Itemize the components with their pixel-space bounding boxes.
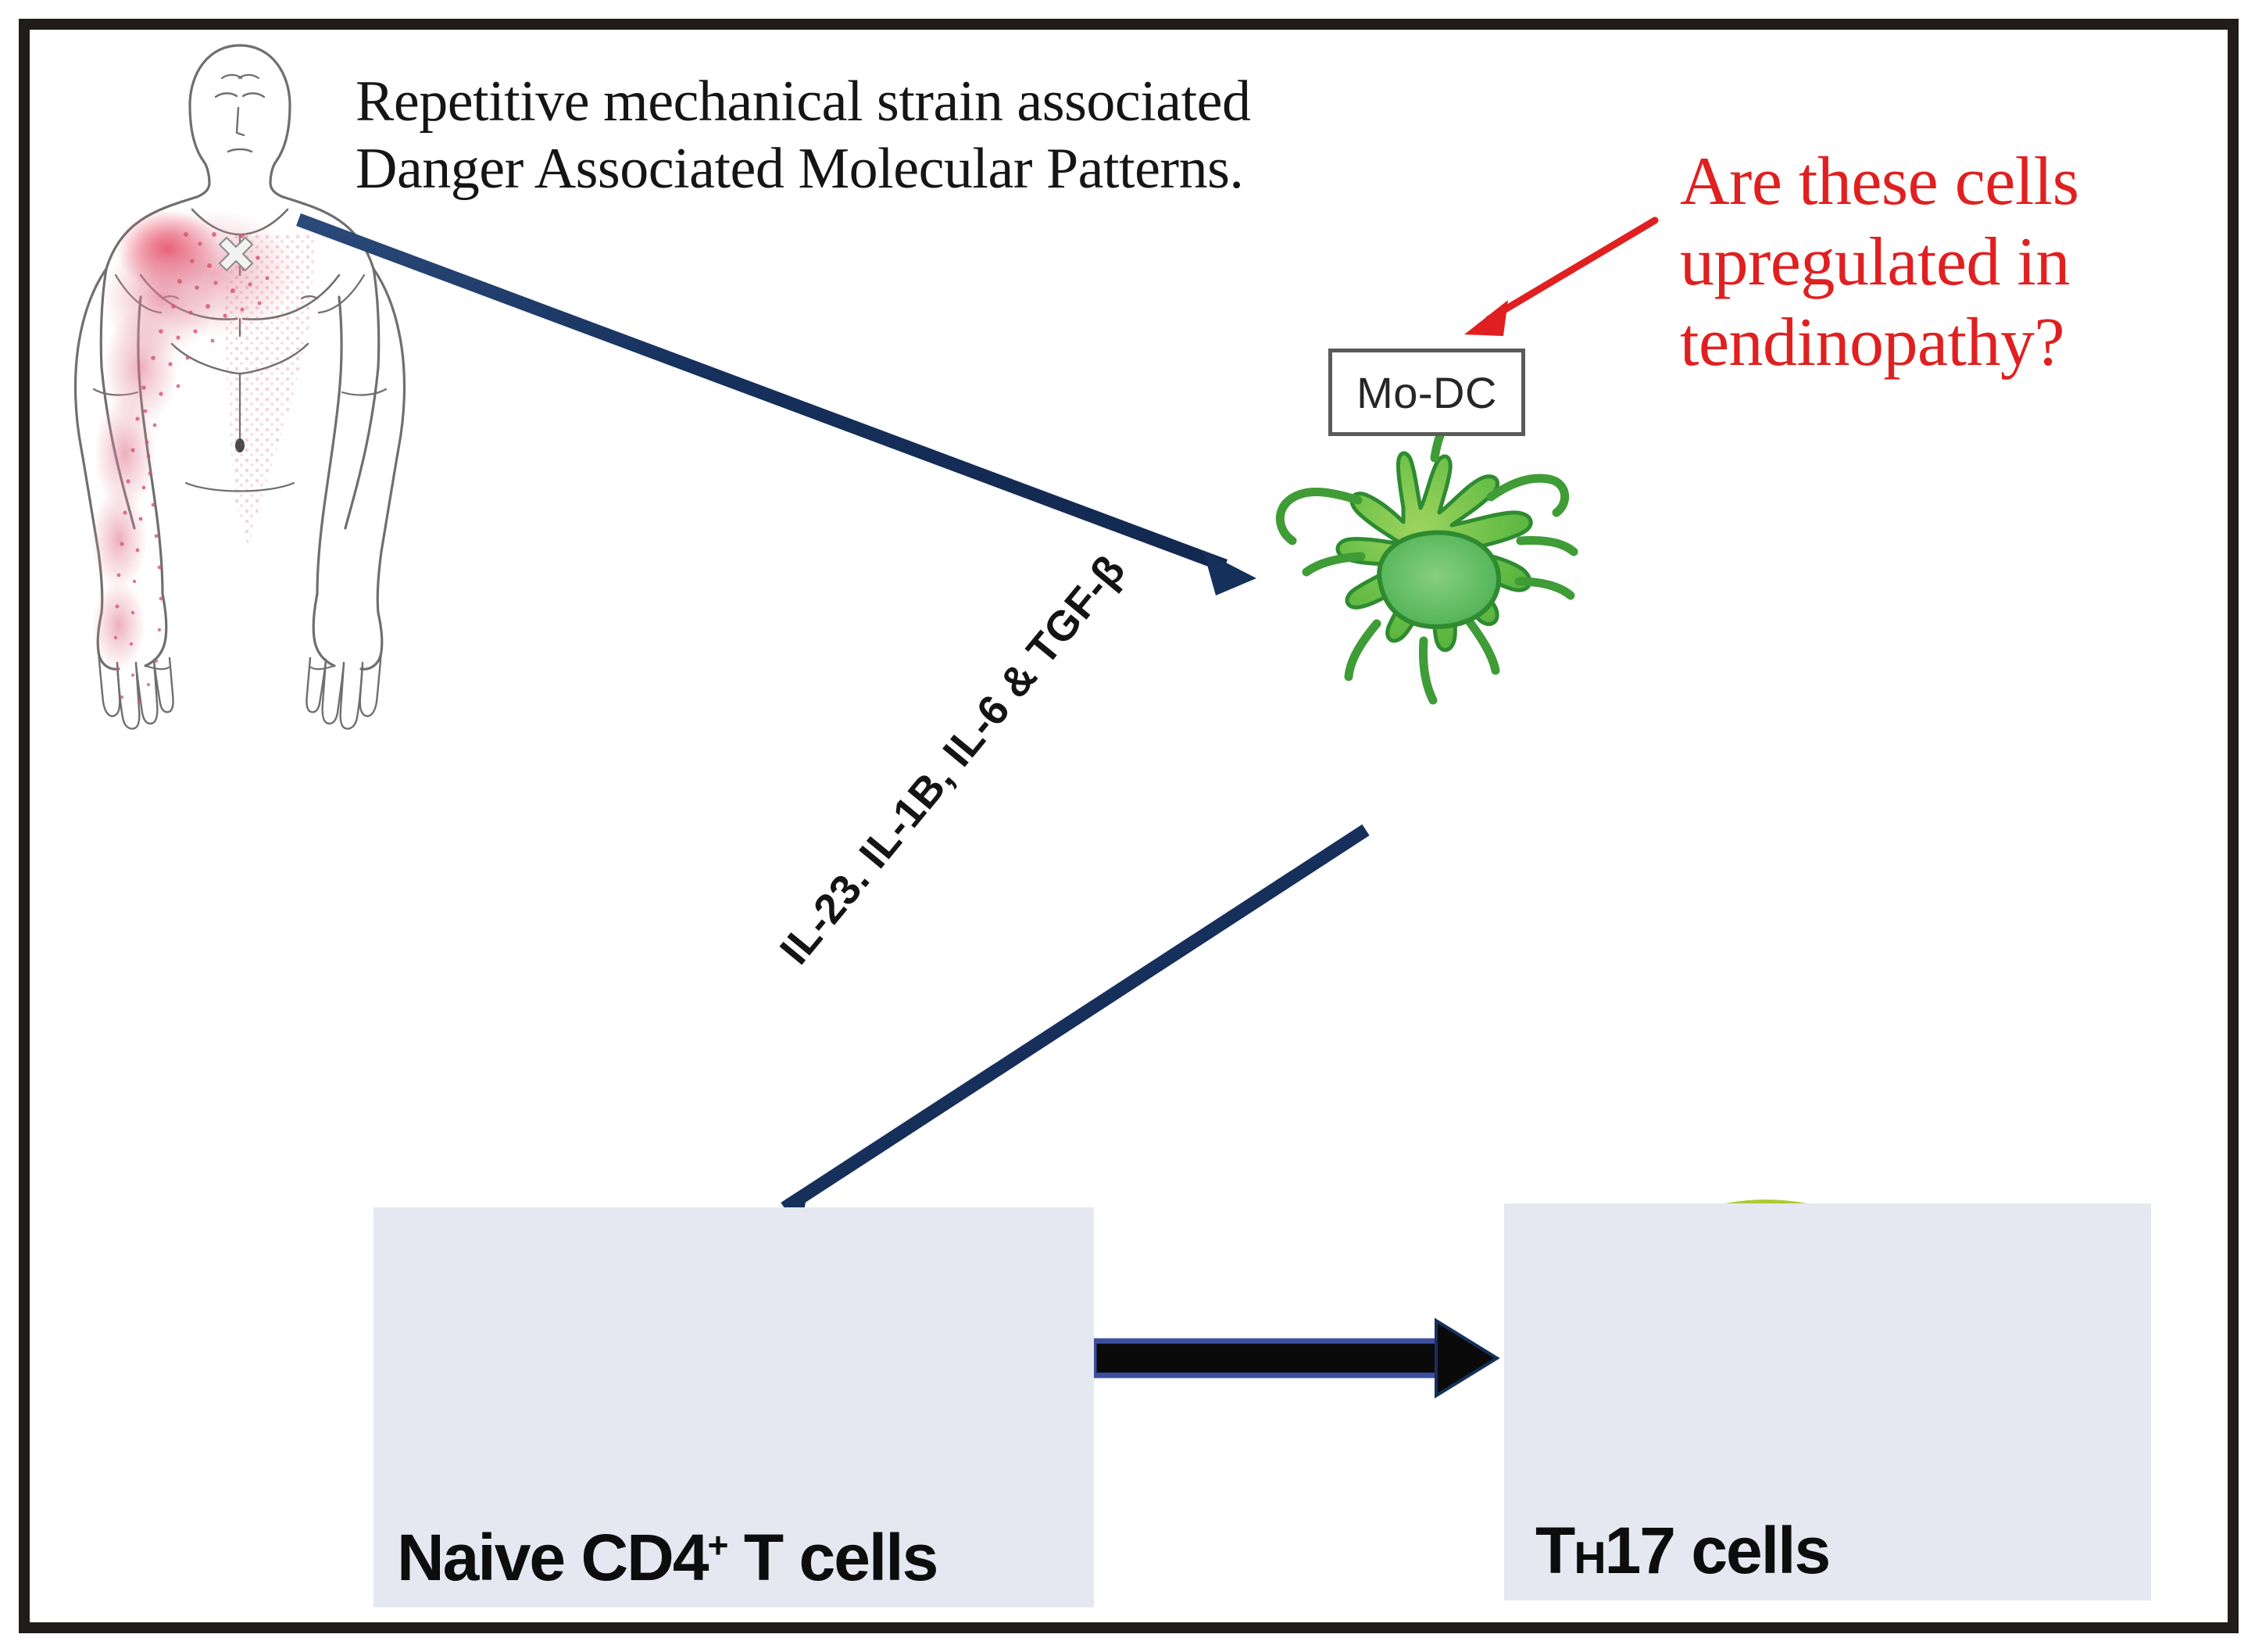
th17-label-prefix: T [1535,1514,1574,1587]
research-question-line1: Are these cells [1680,142,2227,223]
research-question-line3: tendinopathy? [1680,303,2227,384]
th17-label-suffix: 17 cells [1605,1514,1830,1587]
damp-caption-line2: Danger Associated Molecular Patterns. [356,136,1395,203]
naive-cd4-label-sup: + [708,1525,727,1565]
naive-cd4-label: Naive CD4+ T cells [373,1525,1117,1590]
modc-label-box: Mo-DC [1328,349,1525,436]
modc-label-text: Mo-DC [1356,367,1497,418]
damp-caption: Repetitive mechanical strain associated … [356,69,1395,203]
figure-canvas: Repetitive mechanical strain associated … [0,0,2255,1652]
naive-cd4-panel: Naive CD4+ T cells [373,1207,1094,1607]
th17-panel: TH17 cells [1504,1203,2151,1600]
research-question-line2: upregulated in [1680,223,2227,303]
research-question: Are these cells upregulated in tendinopa… [1680,142,2227,384]
damp-caption-line1: Repetitive mechanical strain associated [356,69,1395,136]
naive-cd4-label-suffix: T cells [727,1521,938,1594]
th17-label-smallcap: H [1574,1533,1604,1583]
naive-cd4-label-prefix: Naive CD4 [397,1521,708,1594]
th17-label: TH17 cells [1504,1518,2182,1583]
